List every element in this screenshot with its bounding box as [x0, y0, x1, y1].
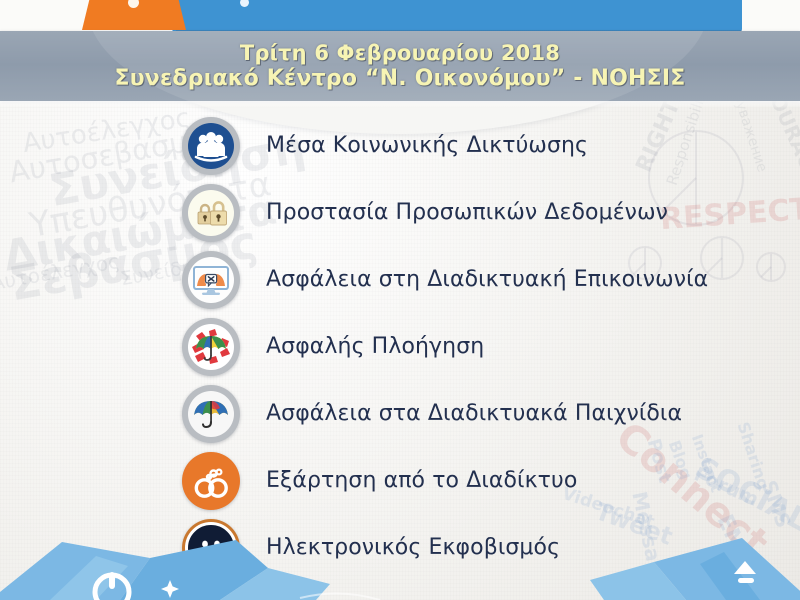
topic-row[interactable]: Ασφαλής Πλοήγηση — [0, 313, 800, 380]
topic-label: Μέσα Κοινωνικής Δικτύωσης — [266, 133, 588, 158]
topic-row[interactable]: Εξάρτηση από το Διαδίκτυο — [0, 447, 800, 514]
topic-label: Ασφαλής Πλοήγηση — [266, 334, 484, 359]
topic-row[interactable]: Μέσα Κοινωνικής Δικτύωσης — [0, 112, 800, 179]
top-band — [0, 0, 800, 32]
sad-face-icon — [182, 519, 240, 577]
topic-label: Εξάρτηση από το Διαδίκτυο — [266, 468, 577, 493]
rainbow-umbrella-icon — [182, 385, 240, 443]
handcuffs-icon — [182, 452, 240, 510]
event-venue: Συνεδριακό Κέντρο “Ν. Οικονόμου” - ΝΟΗΣΙ… — [115, 66, 686, 91]
umbrella-shield-icon — [182, 318, 240, 376]
poster-root: Αυτοέλεγχος Αυτοσεβασμός Συνείδηση Υπευθ… — [0, 0, 800, 600]
top-bar-blue — [172, 0, 742, 32]
topic-label: Ασφάλεια στη Διαδικτυακή Επικοινωνία — [266, 267, 708, 292]
topic-list: Μέσα Κοινωνικής Δικτύωσης — [0, 112, 800, 581]
banner-underline — [0, 101, 800, 108]
banner-text-block: Τρίτη 6 Φεβρουαρίου 2018 Συνεδριακό Κέντ… — [0, 31, 800, 101]
topic-label: Ασφάλεια στα Διαδικτυακά Παιχνίδια — [266, 401, 682, 426]
topic-row[interactable]: Προστασία Προσωπικών Δεδομένων — [0, 179, 800, 246]
padlocks-icon — [182, 184, 240, 242]
topic-row[interactable]: Ηλεκτρονικός Εκφοβισμός — [0, 514, 800, 581]
topic-label: Ηλεκτρονικός Εκφοβισμός — [266, 535, 560, 560]
topic-label: Προστασία Προσωπικών Δεδομένων — [266, 200, 668, 225]
event-date: Τρίτη 6 Φεβρουαρίου 2018 — [240, 41, 560, 65]
social-network-people-icon — [182, 117, 240, 175]
event-banner: Τρίτη 6 Φεβρουαρίου 2018 Συνεδριακό Κέντ… — [0, 31, 800, 101]
monitor-angry-faces-icon — [182, 251, 240, 309]
topic-row[interactable]: Ασφάλεια στα Διαδικτυακά Παιχνίδια — [0, 380, 800, 447]
topic-row[interactable]: Ασφάλεια στη Διαδικτυακή Επικοινωνία — [0, 246, 800, 313]
